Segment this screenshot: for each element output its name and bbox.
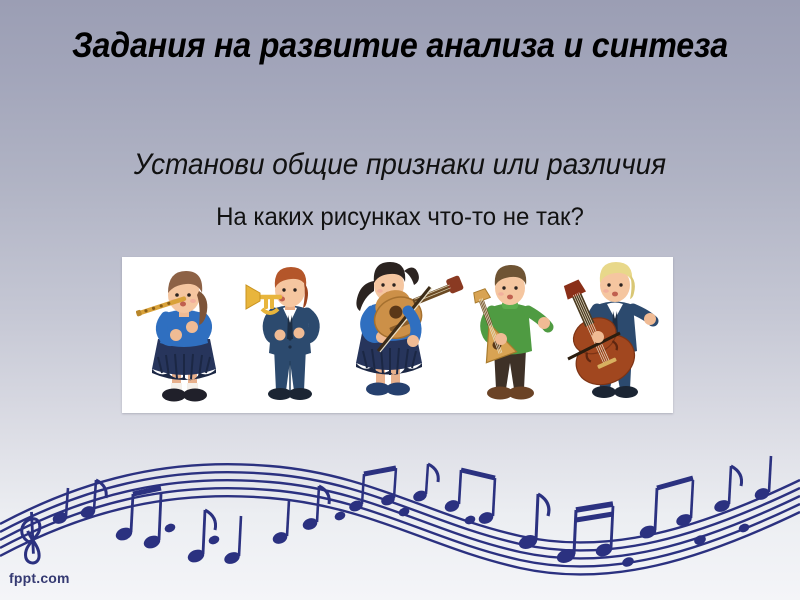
- figure-boy-balalaika: [460, 263, 578, 407]
- page-title: Задания на развитие анализа и синтеза: [69, 24, 731, 69]
- figure-boy-trumpet: [240, 263, 340, 407]
- watermark-fppt: fppt.com: [9, 570, 70, 586]
- subtitle-line-1: Установи общие признаки или различия: [47, 148, 754, 182]
- illustration-panel: [122, 257, 673, 413]
- presentation-slide: Задания на развитие анализа и синтеза Ус…: [0, 0, 800, 600]
- figure-girl-guitar-bow: [334, 259, 464, 407]
- music-staff-decoration: [0, 432, 800, 600]
- figure-boy-doublebass: [562, 261, 688, 407]
- subtitle-line-2: На каких рисунках что-то не так?: [35, 203, 765, 232]
- figure-girl-flute: [136, 265, 232, 407]
